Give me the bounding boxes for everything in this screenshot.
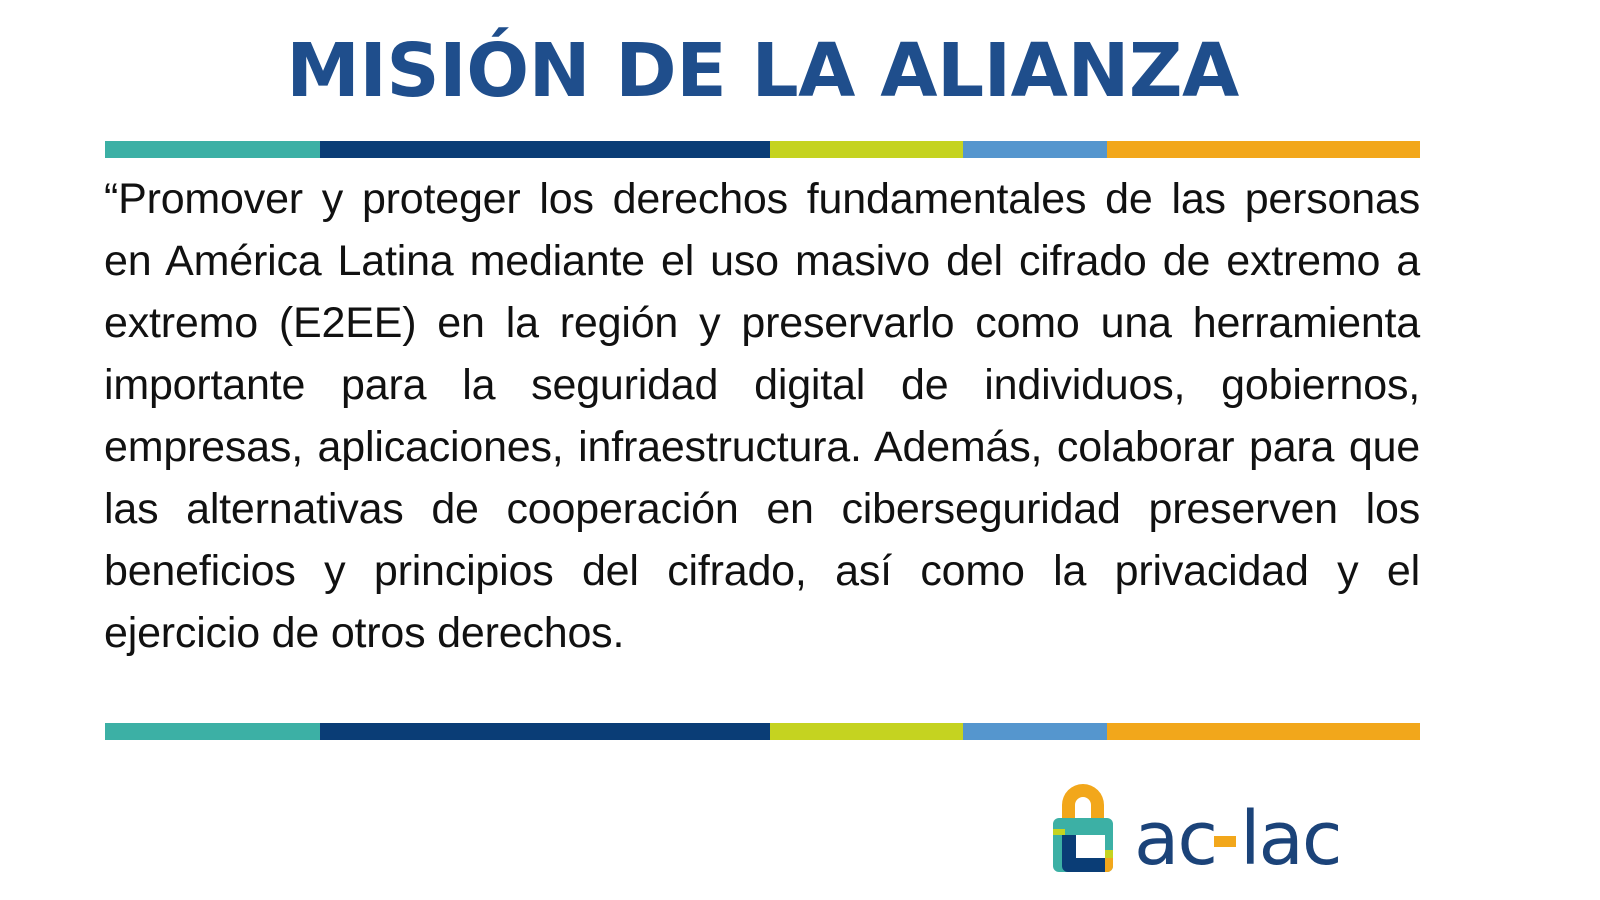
padlock-icon: ac lac <box>1048 778 1360 878</box>
logo-wordmark-lac: lac <box>1240 796 1341 878</box>
logo-wordmark-ac: ac <box>1134 796 1216 878</box>
aclac-logo: ac lac <box>1048 778 1360 878</box>
divider-segment-orange <box>1107 141 1420 158</box>
divider-segment-teal <box>105 141 320 158</box>
divider-segment-teal <box>105 723 320 740</box>
logo-wordmark-hyphen <box>1214 836 1236 847</box>
divider-segment-lightblue <box>963 723 1107 740</box>
divider-segment-green <box>770 723 963 740</box>
padlock-shackle <box>1062 784 1104 818</box>
divider-bar-top <box>105 141 1420 158</box>
page-title: MISIÓN DE LA ALIANZA <box>105 34 1420 108</box>
divider-segment-navy <box>320 141 770 158</box>
mission-statement-text: “Promover y proteger los derechos fundam… <box>104 168 1420 664</box>
divider-segment-lightblue <box>963 141 1107 158</box>
padlock-inner-window <box>1076 835 1105 858</box>
slide-canvas: MISIÓN DE LA ALIANZA “Promover y protege… <box>0 0 1600 900</box>
divider-bar-bottom <box>105 723 1420 740</box>
padlock-accent-green-right <box>1105 850 1113 858</box>
divider-segment-navy <box>320 723 770 740</box>
divider-segment-green <box>770 141 963 158</box>
logo-wordmark: ac lac <box>1134 796 1341 878</box>
divider-segment-orange <box>1107 723 1420 740</box>
padlock-accent-orange <box>1105 858 1113 872</box>
padlock-accent-green-left <box>1053 829 1065 835</box>
